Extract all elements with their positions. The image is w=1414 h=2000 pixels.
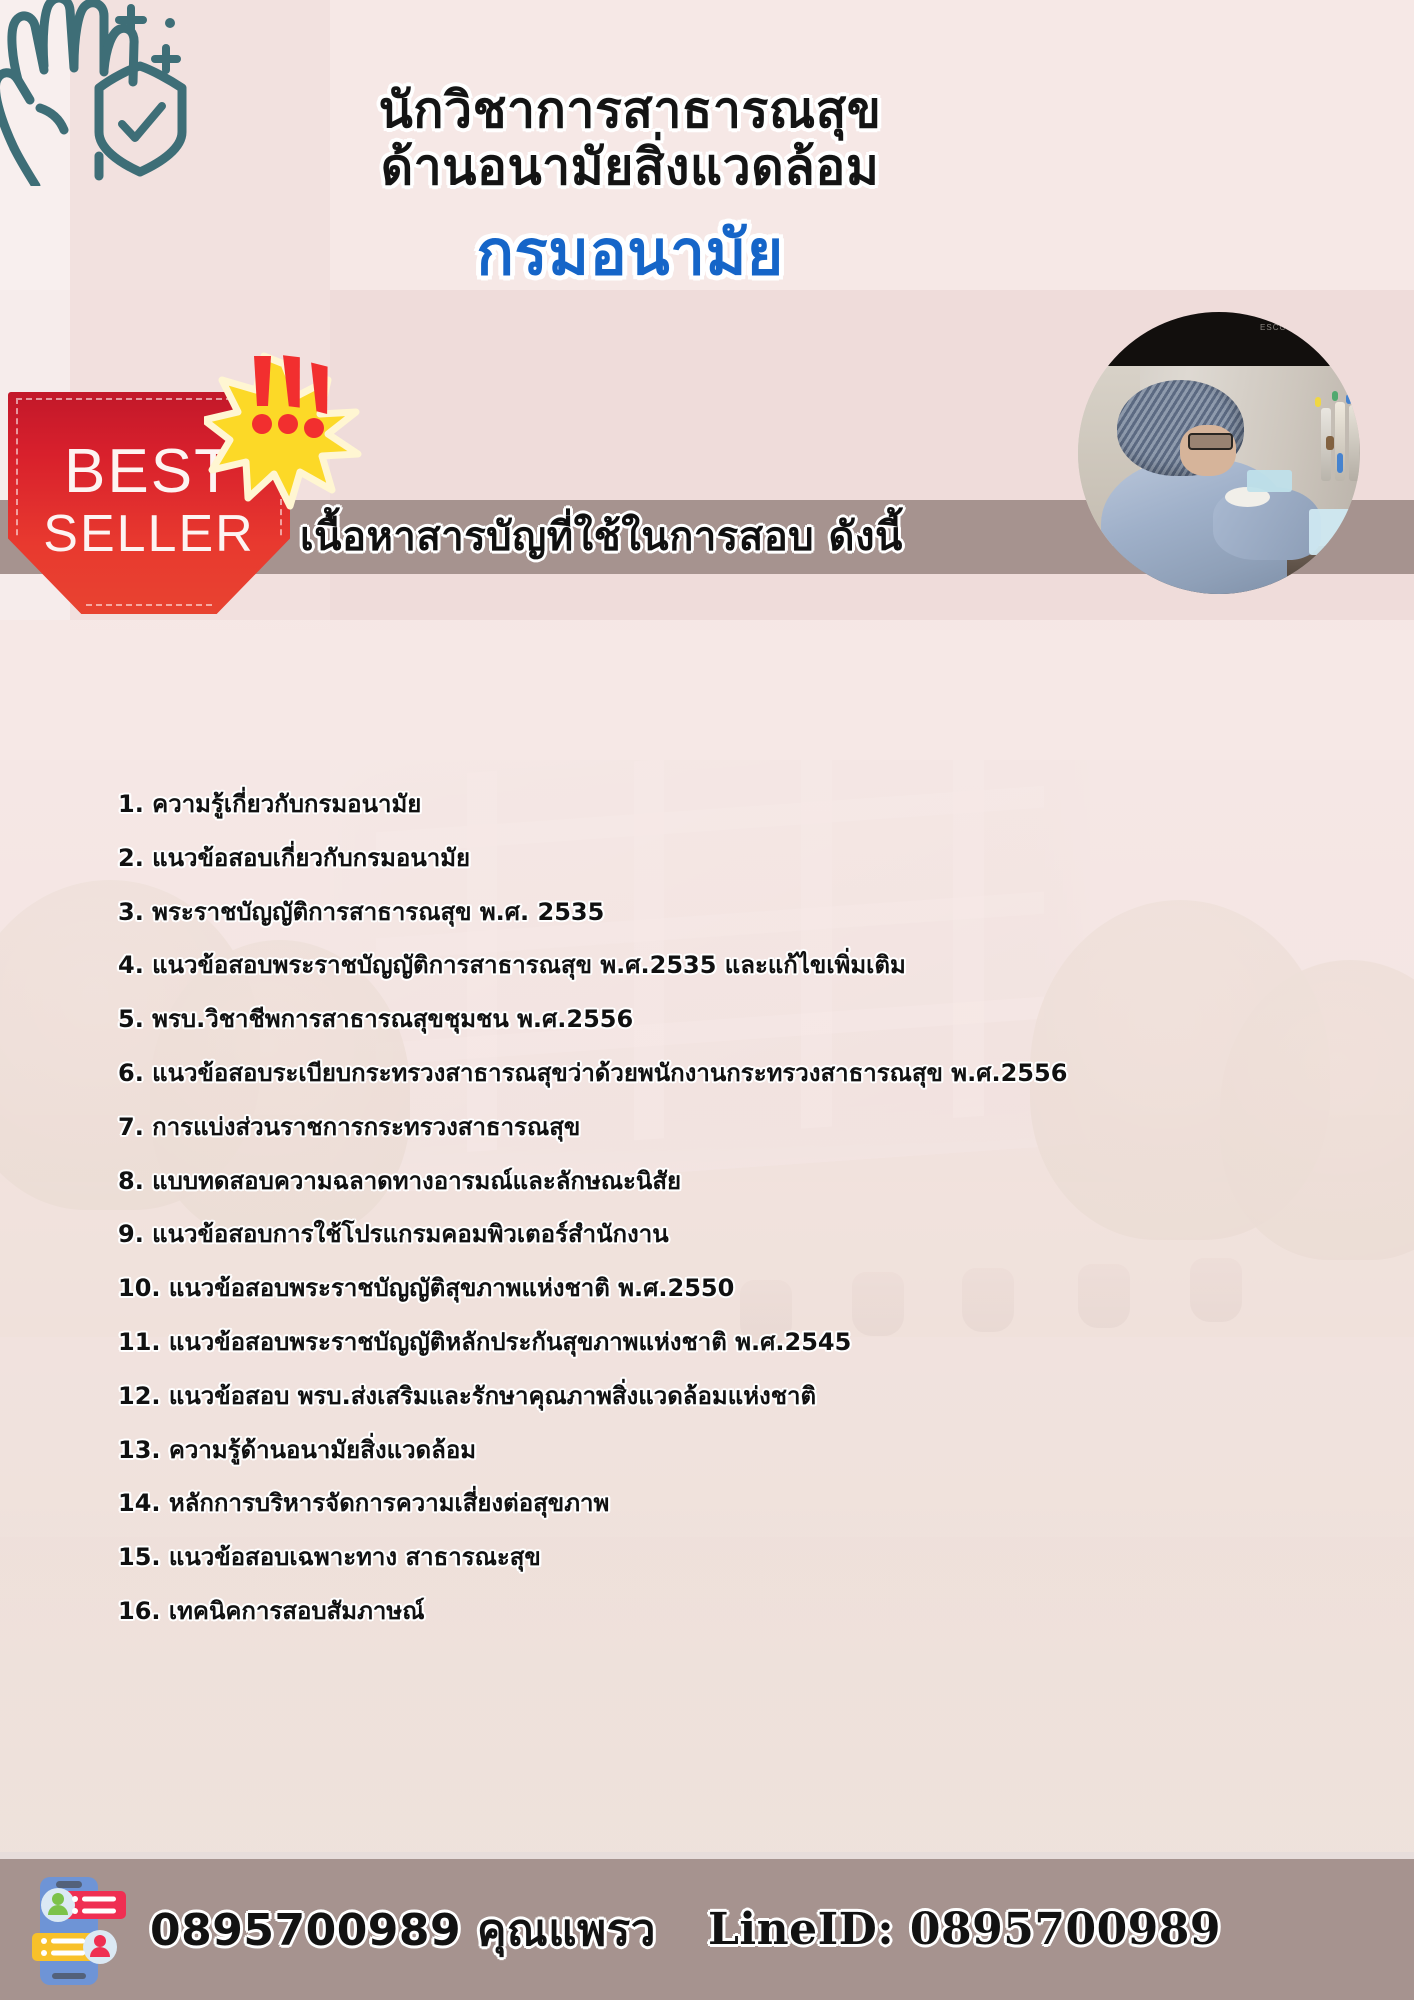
footer-line-id: LineID: 0895700989	[708, 1904, 1221, 1955]
exclamation-burst-icon	[204, 350, 364, 510]
contact-chat-icon	[22, 1875, 130, 1987]
list-item: 8. แบบทดสอบความฉลาดทางอารมณ์และลักษณะนิส…	[118, 1167, 1378, 1196]
list-item: 14. หลักการบริหารจัดการความเสี่ยงต่อสุขภ…	[118, 1489, 1378, 1518]
list-item: 12. แนวข้อสอบ พรบ.ส่งเสริมและรักษาคุณภาพ…	[118, 1382, 1378, 1411]
hood-label: ESCO	[1260, 323, 1287, 332]
list-item: 11. แนวข้อสอบพระราชบัญญัติหลักประกันสุขภ…	[118, 1328, 1378, 1357]
list-item: 5. พรบ.วิชาชีพการสาธารณสุขชุมชน พ.ศ.2556	[118, 1005, 1378, 1034]
list-item: 4. แนวข้อสอบพระราชบัญญัติการสาธารณสุข พ.…	[118, 951, 1378, 980]
subtitle-banner-text: เนื้อหาสารบัญที่ใช้ในการสอบ ดังนี้	[300, 496, 1000, 576]
topic-list: 1. ความรู้เกี่ยวกับกรมอนามัย 2. แนวข้อสอ…	[118, 790, 1378, 1651]
badge-seller-label: SELLER	[8, 504, 290, 564]
page-title: นักวิชาการสาธารณสุข ด้านอนามัยสิ่งแวดล้อ…	[190, 82, 1070, 289]
list-item: 13. ความรู้ด้านอนามัยสิ่งแวดล้อม	[118, 1436, 1378, 1465]
best-seller-badge: BEST SELLER	[8, 392, 290, 614]
footer-divider	[0, 1852, 1414, 1859]
list-item: 7. การแบ่งส่วนราชการกระทรวงสาธารณสุข	[118, 1113, 1378, 1142]
poster-root: นักวิชาการสาธารณสุข ด้านอนามัยสิ่งแวดล้อ…	[0, 0, 1414, 2000]
list-item: 3. พระราชบัญญัติการสาธารณสุข พ.ศ. 2535	[118, 898, 1378, 927]
list-item: 1. ความรู้เกี่ยวกับกรมอนามัย	[118, 790, 1378, 819]
footer-contact-info: 0895700989 คุณแพรว LineID: 0895700989	[150, 1859, 1221, 2000]
list-item: 16. เทคนิคการสอบสัมภาษณ์	[118, 1597, 1378, 1626]
headline-line-1: นักวิชาการสาธารณสุข	[190, 82, 1070, 139]
footer-phone: 0895700989 คุณแพรว	[150, 1895, 656, 1965]
list-item: 15. แนวข้อสอบเฉพาะทาง สาธารณะสุข	[118, 1543, 1378, 1572]
list-item: 9. แนวข้อสอบการใช้โปรแกรมคอมพิวเตอร์สำนั…	[118, 1220, 1378, 1249]
lab-technician-photo: ESCO	[1078, 312, 1360, 594]
list-item: 2. แนวข้อสอบเกี่ยวกับกรมอนามัย	[118, 844, 1378, 873]
list-item: 6. แนวข้อสอบระเบียบกระทรวงสาธารณสุขว่าด้…	[118, 1059, 1378, 1088]
headline-line-3: กรมอนามัย	[190, 218, 1070, 289]
headline-line-2: ด้านอนามัยสิ่งแวดล้อม	[190, 139, 1070, 196]
footer-bar: 0895700989 คุณแพรว LineID: 0895700989	[0, 1859, 1414, 2000]
list-item: 10. แนวข้อสอบพระราชบัญญัติสุขภาพแห่งชาติ…	[118, 1274, 1378, 1303]
